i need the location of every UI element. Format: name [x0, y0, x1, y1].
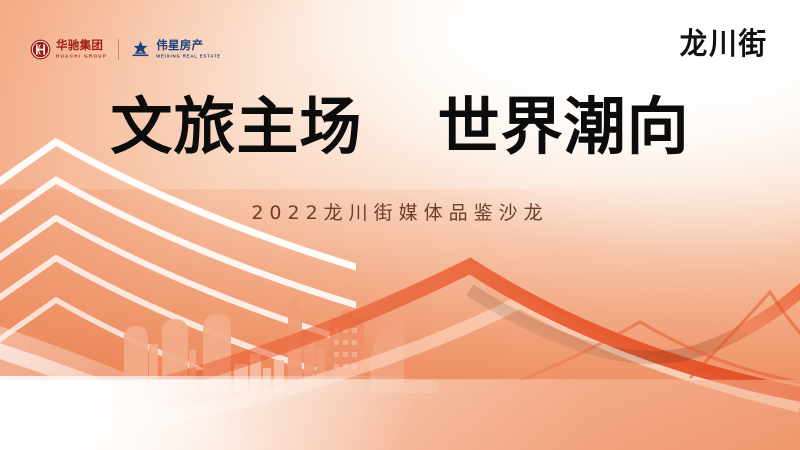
ground-light-streak	[0, 376, 423, 450]
huachi-name-en: HUACHI GROUP	[56, 54, 107, 59]
headline-part-two: 世界潮向	[438, 90, 690, 163]
partner-logo-weixing[interactable]: 伟星房产 WEIXING REAL ESTATE	[130, 40, 221, 58]
partner-logo-bar: 华驰集团 HUACHI GROUP 伟星房产 WEIXING REAL ESTA…	[30, 34, 221, 64]
partner-logo-huachi[interactable]: 华驰集团 HUACHI GROUP	[30, 39, 107, 60]
headline-part-one: 文旅主场	[110, 90, 362, 163]
weixing-star-emblem-icon	[130, 40, 151, 57]
page-title: 文旅主场 世界潮向	[0, 96, 800, 158]
foreground-ground-plane	[0, 380, 800, 450]
event-banner: 华驰集团 HUACHI GROUP 伟星房产 WEIXING REAL ESTA…	[0, 0, 800, 450]
huachi-circular-emblem-icon	[30, 39, 51, 60]
huachi-wordmark: 华驰集团 HUACHI GROUP	[56, 40, 107, 58]
huachi-name-cn: 华驰集团	[56, 40, 107, 52]
event-subtitle: 2022龙川街媒体品鉴沙龙	[0, 198, 800, 225]
weixing-wordmark: 伟星房产 WEIXING REAL ESTATE	[156, 40, 221, 58]
weixing-name-cn: 伟星房产	[156, 40, 221, 52]
logo-divider	[118, 39, 119, 60]
weixing-name-en: WEIXING REAL ESTATE	[156, 54, 221, 59]
brand-mark-longchuan-street: 龙川街	[680, 30, 768, 60]
